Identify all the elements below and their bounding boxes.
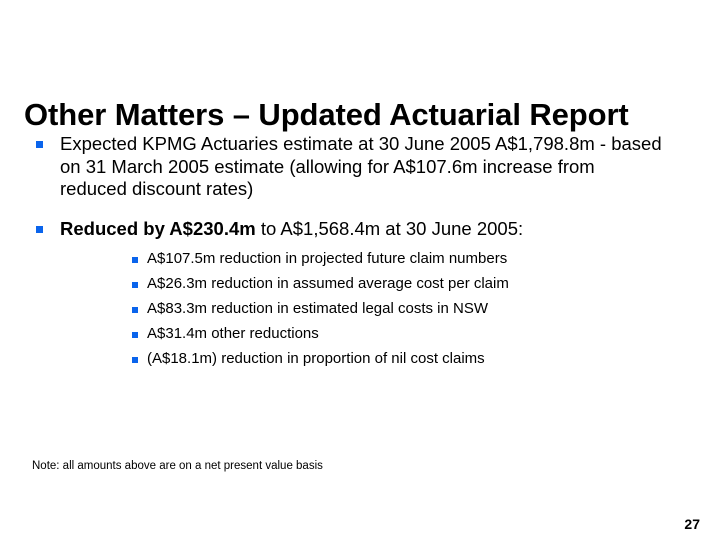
sub-bullet-text: A$83.3m reduction in estimated legal cos… — [147, 299, 662, 318]
slide-body: Expected KPMG Actuaries estimate at 30 J… — [0, 133, 720, 391]
bullet-text-body: to A$1,568.4m at 30 June 2005: — [256, 218, 523, 239]
sub-bullet-text: A$31.4m other reductions — [147, 324, 662, 343]
square-subbullet-icon — [132, 257, 138, 263]
square-subbullet-icon — [132, 282, 138, 288]
bullet-item: Expected KPMG Actuaries estimate at 30 J… — [0, 133, 720, 201]
square-bullet-icon — [36, 226, 43, 233]
bullet-text: Expected KPMG Actuaries estimate at 30 J… — [60, 133, 662, 201]
page-title: Other Matters – Updated Actuarial Report — [24, 97, 696, 133]
bullet-item: Reduced by A$230.4m to A$1,568.4m at 30 … — [0, 218, 720, 375]
bullet-text-emphasis: Reduced by A$230.4m — [60, 218, 256, 239]
sub-bullet-item: (A$18.1m) reduction in proportion of nil… — [60, 349, 662, 374]
sub-bullet-text: (A$18.1m) reduction in proportion of nil… — [147, 349, 662, 368]
bullet-text-body: Expected KPMG Actuaries estimate at 30 J… — [60, 133, 662, 199]
page-number: 27 — [684, 516, 700, 532]
square-subbullet-icon — [132, 307, 138, 313]
bullet-text: Reduced by A$230.4m to A$1,568.4m at 30 … — [60, 218, 662, 241]
sub-bullet-item: A$26.3m reduction in assumed average cos… — [60, 274, 662, 299]
sub-bullet-list: A$107.5m reduction in projected future c… — [60, 249, 662, 374]
sub-bullet-item: A$107.5m reduction in projected future c… — [60, 249, 662, 274]
footnote-text: Note: all amounts above are on a net pre… — [32, 459, 323, 473]
sub-bullet-item: A$31.4m other reductions — [60, 324, 662, 349]
square-subbullet-icon — [132, 357, 138, 363]
square-subbullet-icon — [132, 332, 138, 338]
sub-bullet-text: A$26.3m reduction in assumed average cos… — [147, 274, 662, 293]
sub-bullet-text: A$107.5m reduction in projected future c… — [147, 249, 662, 268]
sub-bullet-item: A$83.3m reduction in estimated legal cos… — [60, 299, 662, 324]
square-bullet-icon — [36, 141, 43, 148]
slide-canvas: Other Matters – Updated Actuarial Report… — [0, 0, 720, 540]
